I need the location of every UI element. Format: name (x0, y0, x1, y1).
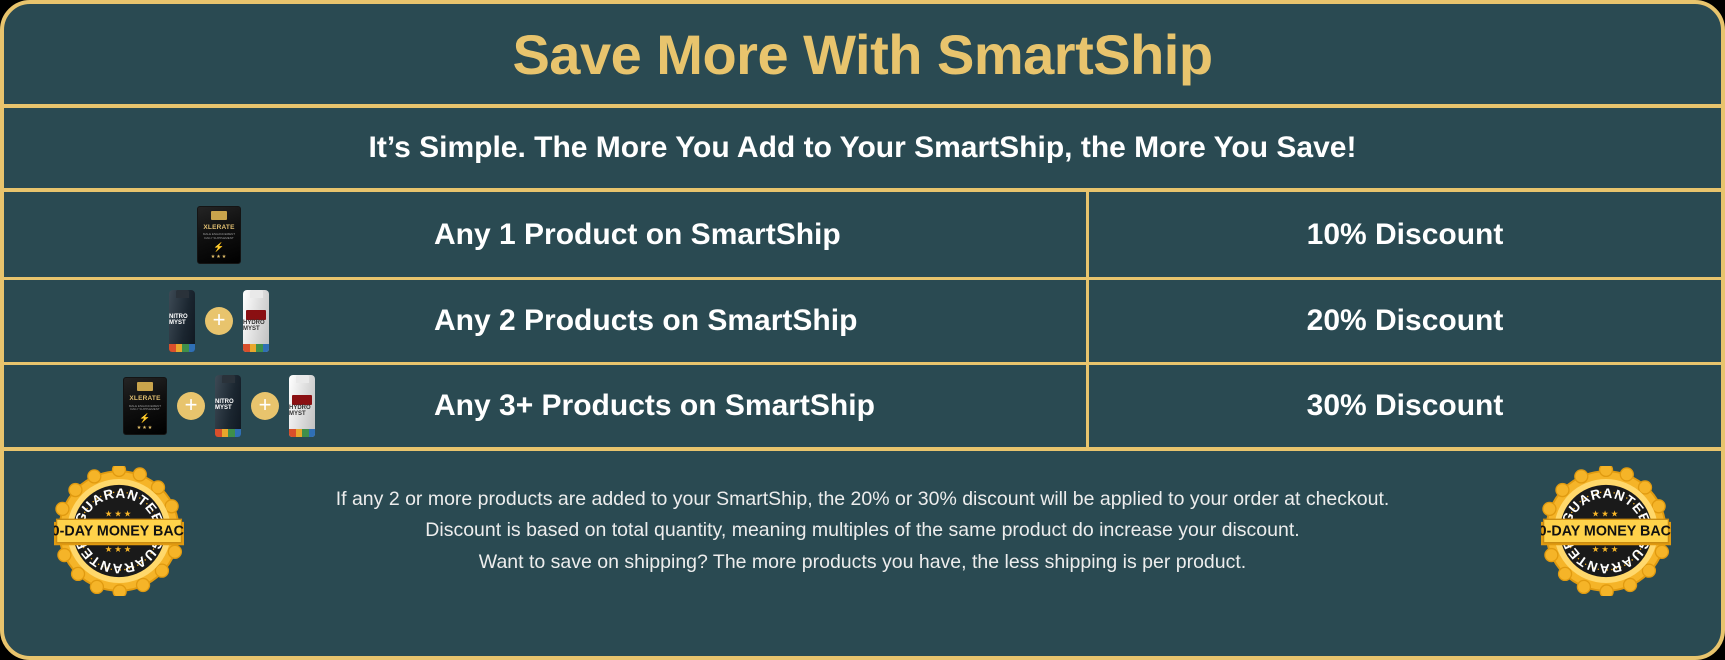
bottle-color-strip-icon (215, 429, 241, 437)
badge-stars-top-icon: ★★★ (105, 509, 134, 519)
table-row: XLERATE MALE ENHANCEMENT DAILY SUPPLEMEN… (4, 192, 1721, 277)
plus-icon: + (205, 307, 233, 335)
light-bottle-label: HYDRO MYST (243, 321, 269, 332)
product-pouch-icon: XLERATE MALE ENHANCEMENT DAILY SUPPLEMEN… (123, 377, 167, 435)
pouch-top-seal-icon (137, 382, 153, 391)
dark-bottle-label: NITRO MYST (215, 400, 241, 411)
tier-3-product-images: XLERATE MALE ENHANCEMENT DAILY SUPPLEMEN… (4, 375, 434, 437)
tier-1-product-images: XLERATE MALE ENHANCEMENT DAILY SUPPLEMEN… (4, 206, 434, 264)
tier-3-description-cell: XLERATE MALE ENHANCEMENT DAILY SUPPLEMEN… (4, 365, 1089, 447)
table-row: XLERATE MALE ENHANCEMENT DAILY SUPPLEMEN… (4, 362, 1721, 447)
footer-line-2: Discount is based on total quantity, mea… (200, 515, 1525, 547)
pouch-brand-label: XLERATE (203, 225, 234, 232)
light-bottle-label: HYDRO MYST (289, 406, 315, 417)
product-dark-bottle-icon: NITRO MYST (215, 375, 241, 437)
money-back-guarantee-badge-icon: GUARANTEE GUARANTEE ★★★ ★★★ 60-DAY MONEY… (54, 466, 184, 596)
tier-2-product-images: NITRO MYST + (4, 290, 434, 352)
footer-disclaimer: If any 2 or more products are added to y… (184, 484, 1541, 579)
bottle-cap-icon (222, 375, 235, 383)
pouch-sub-label: MALE ENHANCEMENT DAILY SUPPLEMENT (128, 405, 162, 413)
page-title: Save More With SmartShip (512, 22, 1212, 87)
footer-line-3: Want to save on shipping? The more produ… (200, 547, 1525, 579)
tier-1-description-cell: XLERATE MALE ENHANCEMENT DAILY SUPPLEMEN… (4, 192, 1089, 277)
tier-1-label: Any 1 Product on SmartShip (434, 218, 841, 252)
bottle-cap-icon (250, 290, 263, 298)
tier-1-discount-cell: 10% Discount (1089, 192, 1721, 277)
smartship-promo-banner: Save More With SmartShip It’s Simple. Th… (0, 0, 1725, 660)
pouch-top-seal-icon (211, 211, 227, 220)
table-row: NITRO MYST + (4, 277, 1721, 362)
product-light-bottle-icon: HYDRO MYST (243, 290, 269, 352)
banner-subtitle: It’s Simple. The More You Add to Your Sm… (369, 131, 1357, 165)
pouch-sub-label: MALE ENHANCEMENT DAILY SUPPLEMENT (202, 233, 236, 241)
pouch-stars-icon: ★★★ (211, 254, 227, 260)
lightning-bolt-icon: ⚡ (139, 414, 150, 423)
badge-stars-top-icon: ★★★ (1592, 509, 1621, 519)
tier-2-discount: 20% Discount (1307, 304, 1504, 338)
badge-ribbon-text: 60-DAY MONEY BACK (54, 524, 184, 540)
bottle-cap-icon (176, 290, 189, 298)
light-bottle-band-icon (292, 395, 313, 405)
banner-title-row: Save More With SmartShip (4, 4, 1721, 108)
bottle-color-strip-icon (289, 429, 315, 437)
discount-tier-table: XLERATE MALE ENHANCEMENT DAILY SUPPLEMEN… (4, 192, 1721, 451)
pouch-brand-label: XLERATE (129, 396, 160, 403)
tier-2-label: Any 2 Products on SmartShip (434, 304, 857, 338)
product-light-bottle-icon: HYDRO MYST (289, 375, 315, 437)
plus-icon: + (251, 392, 279, 420)
tier-3-label: Any 3+ Products on SmartShip (434, 389, 875, 423)
tier-3-discount: 30% Discount (1307, 389, 1504, 423)
lightning-bolt-icon: ⚡ (213, 243, 224, 252)
tier-1-discount: 10% Discount (1307, 218, 1504, 252)
money-back-guarantee-badge-icon: GUARANTEE GUARANTEE ★★★ ★★★ 60-DAY MONEY… (1541, 466, 1671, 596)
plus-icon: + (177, 392, 205, 420)
tier-2-discount-cell: 20% Discount (1089, 280, 1721, 362)
bottle-color-strip-icon (243, 344, 269, 352)
product-dark-bottle-icon: NITRO MYST (169, 290, 195, 352)
product-pouch-icon: XLERATE MALE ENHANCEMENT DAILY SUPPLEMEN… (197, 206, 241, 264)
pouch-stars-icon: ★★★ (137, 425, 153, 431)
bottle-color-strip-icon (169, 344, 195, 352)
banner-footer: GUARANTEE GUARANTEE ★★★ ★★★ 60-DAY MONEY… (4, 451, 1721, 611)
bottle-cap-icon (296, 375, 309, 383)
tier-2-description-cell: NITRO MYST + (4, 280, 1089, 362)
banner-subtitle-row: It’s Simple. The More You Add to Your Sm… (4, 108, 1721, 192)
badge-ribbon-text: 60-DAY MONEY BACK (1541, 524, 1671, 540)
footer-line-1: If any 2 or more products are added to y… (200, 484, 1525, 516)
tier-3-discount-cell: 30% Discount (1089, 365, 1721, 447)
dark-bottle-label: NITRO MYST (169, 315, 195, 326)
light-bottle-band-icon (246, 310, 267, 320)
